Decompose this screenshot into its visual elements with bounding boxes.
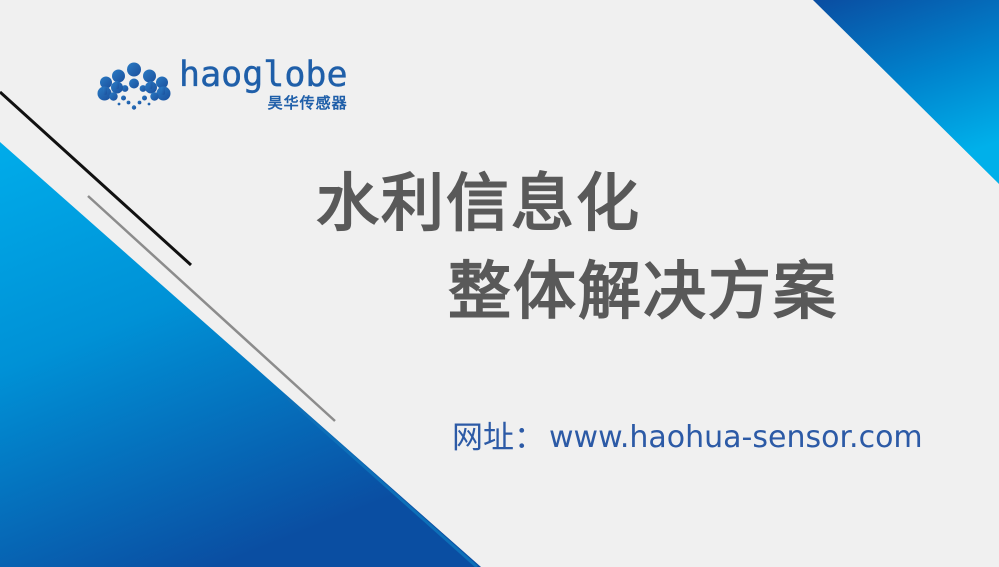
- presentation-slide: haoglobe 昊华传感器 水利信息化 整体解决方案 网址：www.haohu…: [0, 0, 999, 567]
- top-right-blue-triangle: [813, 0, 999, 184]
- brand-subtitle: 昊华传感器: [268, 95, 348, 112]
- website-url-line: 网址：www.haohua-sensor.com: [452, 418, 923, 458]
- brand-wordmark: haoglobe: [179, 58, 348, 93]
- brand-wordmark-group: haoglobe 昊华传感器: [179, 58, 348, 112]
- slide-title: 水利信息化 整体解决方案: [300, 160, 920, 336]
- title-line-2: 整体解决方案: [300, 248, 920, 336]
- brand-logo: haoglobe 昊华传感器: [97, 58, 317, 120]
- dot-cluster-network-icon: [97, 61, 171, 117]
- title-line-1: 水利信息化: [300, 160, 920, 248]
- website-url-label: 网址：: [452, 420, 545, 456]
- website-url-value[interactable]: www.haohua-sensor.com: [549, 420, 923, 455]
